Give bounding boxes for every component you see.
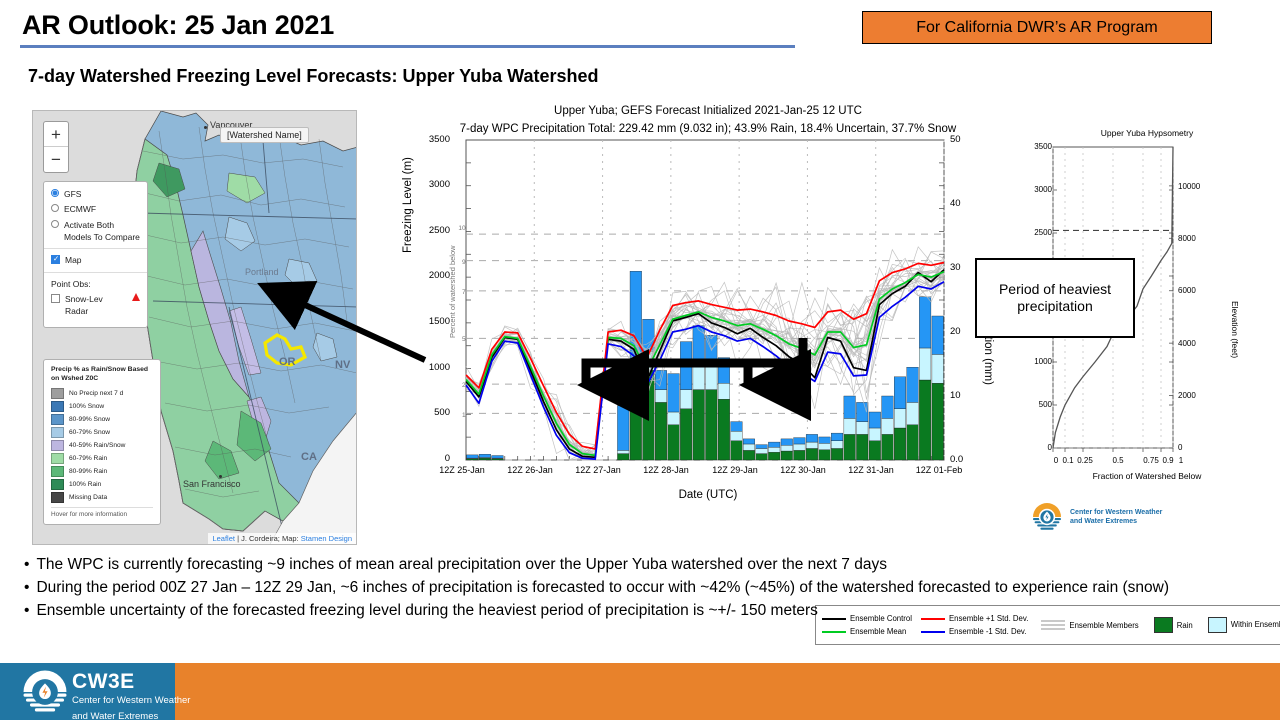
footer-bar: CW3E Center for Western Weather and Wate… (0, 663, 1280, 720)
title-underline (20, 45, 795, 48)
legend-item: 40-59% Rain/Snow (51, 440, 153, 451)
legend-swatch (51, 414, 64, 425)
legend-label: 80-99% Snow (69, 416, 110, 423)
radio-icon-ecmwf (51, 204, 59, 212)
bullet-dot-icon: • (24, 577, 29, 599)
pointer-arrow-to-watershed (240, 280, 440, 370)
legend-item: No Precip next 7 d (51, 388, 153, 399)
layer-divider-2 (44, 272, 147, 273)
cw3e-logo-icon (22, 669, 68, 715)
legend-label: No Precip next 7 d (69, 390, 123, 397)
radio-label-gfs: GFS (64, 188, 81, 200)
city-label-san-francisco: San Francisco (183, 479, 241, 489)
cw3e-logo-small: Center for Western Weather and Water Ext… (1032, 502, 1162, 532)
watershed-name-tooltip: [Watershed Name] (220, 127, 309, 143)
legend-item: 80-99% Snow (51, 414, 153, 425)
legend-item: Missing Data (51, 492, 153, 503)
bullet-item: • During the period 00Z 27 Jan – 12Z 29 … (24, 577, 1264, 599)
legend-label: 100% Snow (69, 403, 104, 410)
city-label-portland: Portland (245, 267, 279, 277)
bullet-item: • The WPC is currently forecasting ~9 in… (24, 554, 1264, 576)
legend-swatch (51, 388, 64, 399)
legend-swatch (51, 492, 64, 503)
legend-item: 60-79% Rain (51, 453, 153, 464)
radio-gfs[interactable]: GFS (51, 188, 140, 200)
cw3e-mark-icon (1032, 502, 1062, 532)
page-subtitle: 7-day Watershed Freezing Level Forecasts… (28, 66, 599, 87)
legend-item: 60-79% Snow (51, 427, 153, 438)
legend-label: Ensemble -1 Std. Dev. (949, 627, 1026, 636)
bullet-dot-icon: • (24, 600, 29, 622)
map-precip-legend: Precip % as Rain/Snow Based on Wshed Z0C… (43, 359, 161, 525)
attribution-text: | J. Cordeira; Map: (235, 534, 301, 543)
point-obs-title: Point Obs: (51, 278, 140, 290)
legend-swatch (51, 440, 64, 451)
annotation-box: Period of heaviest precipitation (975, 258, 1135, 338)
legend-line-green (822, 631, 846, 633)
precip-legend-title: Precip % as Rain/Snow Based on Wshed Z0C (51, 366, 153, 384)
precip-legend-footer: Hover for more information (51, 507, 153, 518)
radio-icon-compare (51, 220, 59, 228)
radio-compare-both[interactable]: Activate Both Models To Compare (51, 219, 140, 244)
checkbox-map-layer[interactable]: Map (51, 254, 140, 266)
legend-item: 80-99% Rain (51, 466, 153, 477)
legend-line-blue (921, 631, 945, 633)
freezing-level-chart[interactable]: Upper Yuba; GEFS Forecast Initialized 20… (398, 103, 1018, 543)
checkbox-snow-lev-radar[interactable]: Snow-Lev Radar (51, 293, 140, 318)
legend-swatch (51, 466, 64, 477)
legend-swatch (51, 427, 64, 438)
footer-brand: CW3E (72, 671, 190, 692)
legend-item-ensemble-mean: Ensemble Mean (822, 627, 912, 636)
cw3e-small-text: Center for Western Weather and Water Ext… (1070, 508, 1162, 527)
legend-label: 100% Rain (69, 481, 101, 488)
legend-label: Ensemble Mean (850, 627, 906, 636)
legend-label: 40-59% Rain/Snow (69, 442, 125, 449)
radio-icon-gfs (51, 189, 59, 197)
footer-text: CW3E Center for Western Weather and Wate… (72, 671, 190, 724)
map-layer-control[interactable]: GFS ECMWF Activate Both Models To Compar… (43, 181, 148, 328)
stamen-link[interactable]: Stamen Design (301, 534, 352, 543)
radar-triangle-icon (132, 293, 140, 301)
legend-item-minus-std: Ensemble -1 Std. Dev. (921, 627, 1028, 636)
chart-plot-area (398, 103, 1018, 503)
bullet-text: During the period 00Z 27 Jan – 12Z 29 Ja… (36, 577, 1169, 599)
bullet-item: • Ensemble uncertainty of the forecasted… (24, 600, 1264, 622)
legend-swatch (51, 453, 64, 464)
legend-label: 60-79% Snow (69, 429, 110, 436)
radio-label-compare: Activate Both Models To Compare (64, 219, 140, 244)
bullet-list: • The WPC is currently forecasting ~9 in… (24, 554, 1264, 623)
legend-swatch (51, 479, 64, 490)
leaflet-link[interactable]: Leaflet (212, 534, 235, 543)
city-dot-san-francisco (219, 475, 222, 478)
legend-item: 100% Snow (51, 401, 153, 412)
footer-line2: and Water Extremes (72, 711, 190, 724)
zoom-in-button[interactable]: + (44, 122, 68, 147)
map-zoom-controls[interactable]: + − (43, 121, 69, 173)
footer-line1: Center for Western Weather (72, 695, 190, 708)
legend-label: 80-99% Rain (69, 468, 107, 475)
checkbox-icon-map (51, 255, 60, 264)
legend-label: Missing Data (69, 494, 107, 501)
cw3e-small-line1: Center for Western Weather (1070, 508, 1162, 517)
state-label-ca: CA (301, 451, 317, 463)
checkbox-label-map: Map (65, 254, 82, 266)
legend-item: 100% Rain (51, 479, 153, 490)
city-dot-vancouver (204, 126, 207, 129)
legend-label: 60-79% Rain (69, 455, 107, 462)
bullet-text: The WPC is currently forecasting ~9 inch… (36, 554, 887, 576)
dwr-program-banner: For California DWR’s AR Program (862, 11, 1212, 44)
page-title: AR Outlook: 25 Jan 2021 (22, 10, 334, 41)
bullet-text: Ensemble uncertainty of the forecasted f… (36, 600, 817, 622)
radio-ecmwf[interactable]: ECMWF (51, 203, 140, 215)
checkbox-label-snow-lev-radar: Snow-Lev Radar (65, 293, 124, 318)
legend-swatch (51, 401, 64, 412)
cw3e-small-line2: and Water Extremes (1070, 517, 1162, 526)
zoom-out-button[interactable]: − (44, 147, 68, 172)
map-attribution[interactable]: Leaflet | J. Cordeira; Map: Stamen Desig… (208, 533, 356, 544)
layer-divider (44, 248, 147, 249)
checkbox-icon-snow-lev-radar (51, 294, 60, 303)
bullet-dot-icon: • (24, 554, 29, 576)
radio-label-ecmwf: ECMWF (64, 203, 96, 215)
